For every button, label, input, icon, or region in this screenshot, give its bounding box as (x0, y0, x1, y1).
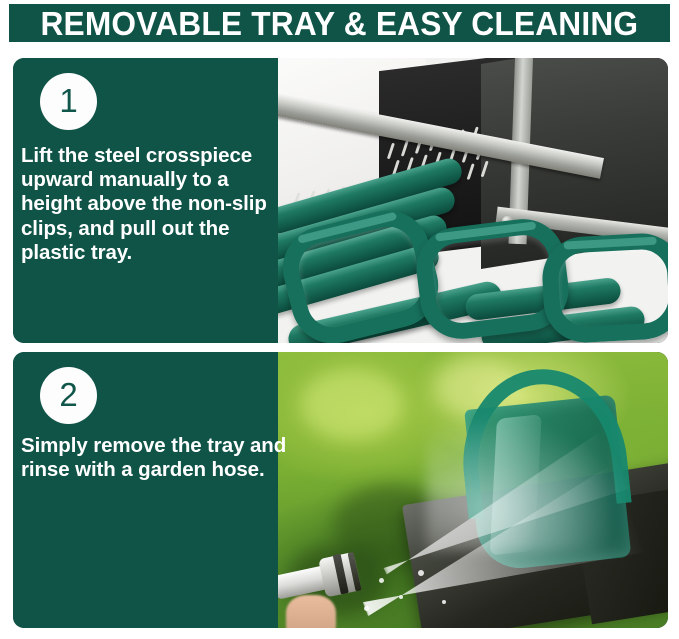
step-number-2: 2 (59, 378, 77, 413)
water-droplet (364, 606, 369, 611)
step-1-text-block: 1 Lift the steel crosspiece upward manua… (13, 58, 278, 343)
step-number-badge-2: 2 (40, 367, 97, 424)
header-banner: REMOVABLE TRAY & EASY CLEANING (9, 4, 670, 42)
grass-highlight (301, 369, 402, 441)
hand-holding-nozzle (286, 595, 337, 628)
infographic-page: REMOVABLE TRAY & EASY CLEANING 1 Lift th… (0, 0, 679, 639)
step-panel-1: 1 Lift the steel crosspiece upward manua… (13, 58, 668, 343)
step-2-photo (278, 352, 668, 628)
page-title: REMOVABLE TRAY & EASY CLEANING (41, 7, 639, 40)
hose-rinse-illustration (278, 352, 668, 628)
step-panel-2: 2 Simply remove the tray and rinse with … (13, 352, 668, 628)
tray-handle-loop (541, 231, 668, 343)
step-1-description: Lift the steel crosspiece upward manuall… (21, 144, 291, 265)
step-number-badge-1: 1 (40, 73, 97, 130)
step-1-photo (278, 58, 668, 343)
step-2-description: Simply remove the tray and rinse with a … (21, 434, 291, 482)
grill-tray-illustration (278, 58, 668, 343)
step-number-1: 1 (59, 84, 77, 119)
water-droplet (399, 595, 403, 599)
step-2-text-block: 2 Simply remove the tray and rinse with … (13, 352, 278, 628)
